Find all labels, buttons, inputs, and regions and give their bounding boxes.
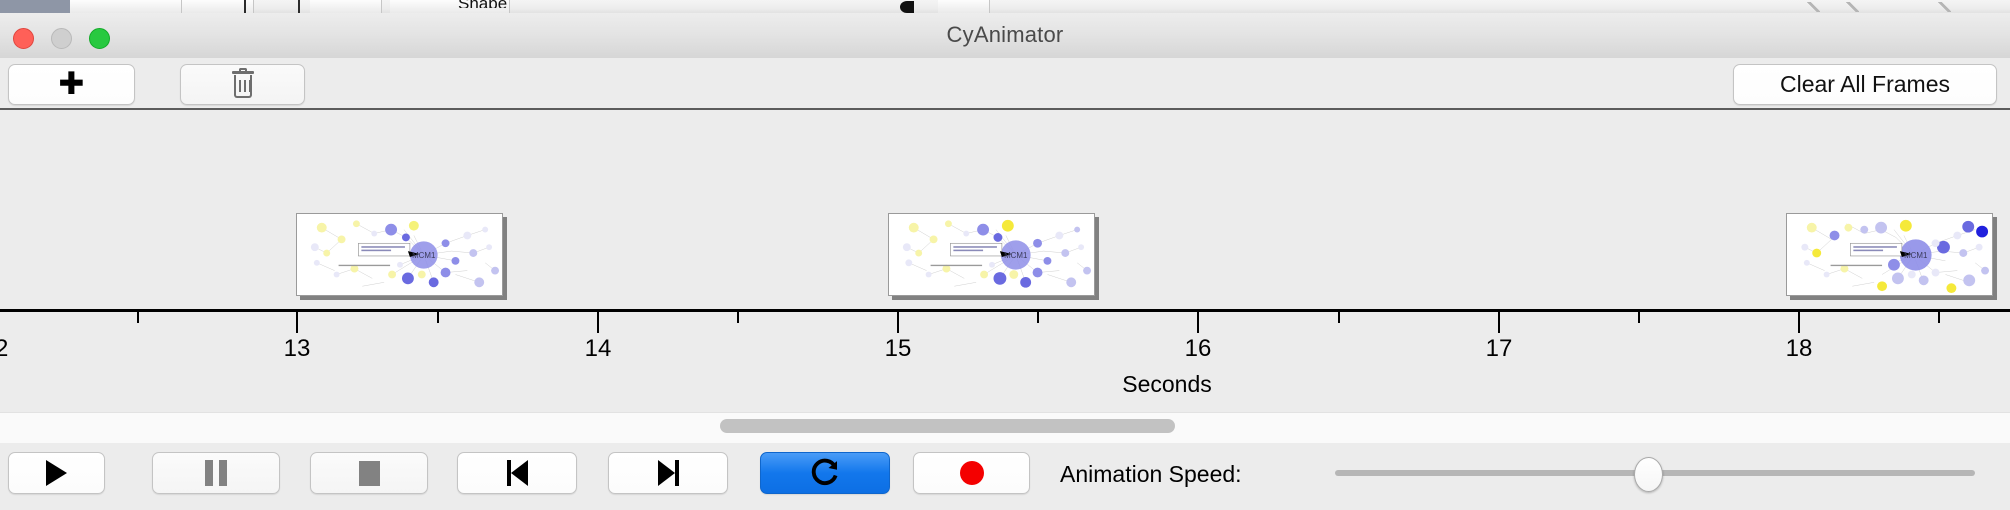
axis-tick-label: 15	[885, 335, 912, 363]
window-title: CyAnimator	[0, 22, 2010, 48]
axis-tick-label: 17	[1486, 335, 1513, 363]
delete-frame-button[interactable]	[180, 64, 305, 105]
skip-forward-icon	[658, 460, 679, 486]
axis-tick-label: 14	[585, 335, 612, 363]
cyanimator-window: Shape CyAnimator ✚ Clear All Fram	[0, 0, 2010, 510]
axis-title: Seconds	[1122, 371, 1212, 398]
background-glyph	[900, 1, 914, 13]
animation-speed-label: Animation Speed:	[1060, 461, 1242, 488]
loop-icon	[810, 458, 840, 488]
timeline-frame[interactable]: MCM1	[1786, 213, 1993, 296]
background-diagonal-mark	[1845, 2, 1859, 12]
background-cell	[938, 0, 990, 13]
trash-icon	[231, 71, 255, 99]
skip-to-end-button[interactable]	[608, 452, 728, 494]
toolbar: ✚ Clear All Frames	[0, 58, 2010, 110]
plus-icon: ✚	[59, 69, 85, 100]
background-window-strip: Shape	[0, 0, 2010, 14]
record-icon	[960, 461, 984, 485]
timeline-frame[interactable]: MCM1	[296, 213, 503, 296]
axis-tick-major	[1498, 312, 1500, 333]
svg-text:MCM1: MCM1	[1904, 251, 1927, 260]
axis-tick-major	[597, 312, 599, 333]
clear-all-frames-label: Clear All Frames	[1780, 71, 1950, 98]
background-cell	[310, 0, 382, 13]
timeline-scrollbar[interactable]	[0, 412, 2010, 444]
frame-thumbnail-network: MCM1	[889, 214, 1094, 295]
clear-all-frames-button[interactable]: Clear All Frames	[1733, 64, 1997, 105]
loop-button[interactable]	[760, 452, 890, 494]
axis-tick-major	[1197, 312, 1199, 333]
background-cell	[70, 0, 182, 13]
skip-to-start-button[interactable]	[457, 452, 577, 494]
stop-icon	[359, 461, 380, 486]
axis-tick-major	[296, 312, 298, 333]
background-divider	[298, 0, 300, 13]
background-diagonal-mark	[1937, 2, 1951, 12]
axis-tick-label: 18	[1786, 335, 1813, 363]
axis-tick-major	[897, 312, 899, 333]
transport-bar: Animation Speed:	[0, 443, 2010, 510]
axis-tick-label: 13	[284, 335, 311, 363]
axis-tick-minor	[1037, 312, 1039, 323]
skip-back-icon	[507, 460, 528, 486]
axis-tick-minor	[1938, 312, 1940, 323]
scrollbar-thumb[interactable]	[720, 419, 1175, 433]
axis-tick-minor	[437, 312, 439, 323]
axis-tick-minor	[137, 312, 139, 323]
svg-text:MCM1: MCM1	[412, 251, 435, 260]
timeline-panel[interactable]: MCM1	[0, 110, 2010, 410]
play-button[interactable]	[8, 452, 105, 494]
background-window-label: Shape	[458, 0, 507, 8]
timeline-frame[interactable]: MCM1	[888, 213, 1095, 296]
axis-tick-minor	[1338, 312, 1340, 323]
pause-icon	[205, 460, 227, 486]
background-divider	[244, 0, 246, 13]
axis-tick-label: 16	[1185, 335, 1212, 363]
animation-speed-slider-thumb[interactable]	[1634, 457, 1663, 492]
background-selected-cell	[0, 0, 70, 13]
play-icon	[46, 460, 67, 486]
axis-tick-minor	[737, 312, 739, 323]
pause-button[interactable]	[152, 452, 280, 494]
timeline-axis	[0, 309, 2010, 312]
frame-thumbnail-network: MCM1	[297, 214, 502, 295]
axis-tick-major	[1798, 312, 1800, 333]
add-frame-button[interactable]: ✚	[8, 64, 135, 105]
frame-thumbnail-network: MCM1	[1787, 214, 1992, 295]
record-button[interactable]	[913, 452, 1030, 494]
stop-button[interactable]	[310, 452, 428, 494]
svg-text:MCM1: MCM1	[1004, 251, 1027, 260]
axis-tick-label: 12	[0, 335, 8, 363]
title-bar: CyAnimator	[0, 13, 2010, 59]
axis-tick-minor	[1638, 312, 1640, 323]
background-diagonal-mark	[1806, 2, 1820, 12]
